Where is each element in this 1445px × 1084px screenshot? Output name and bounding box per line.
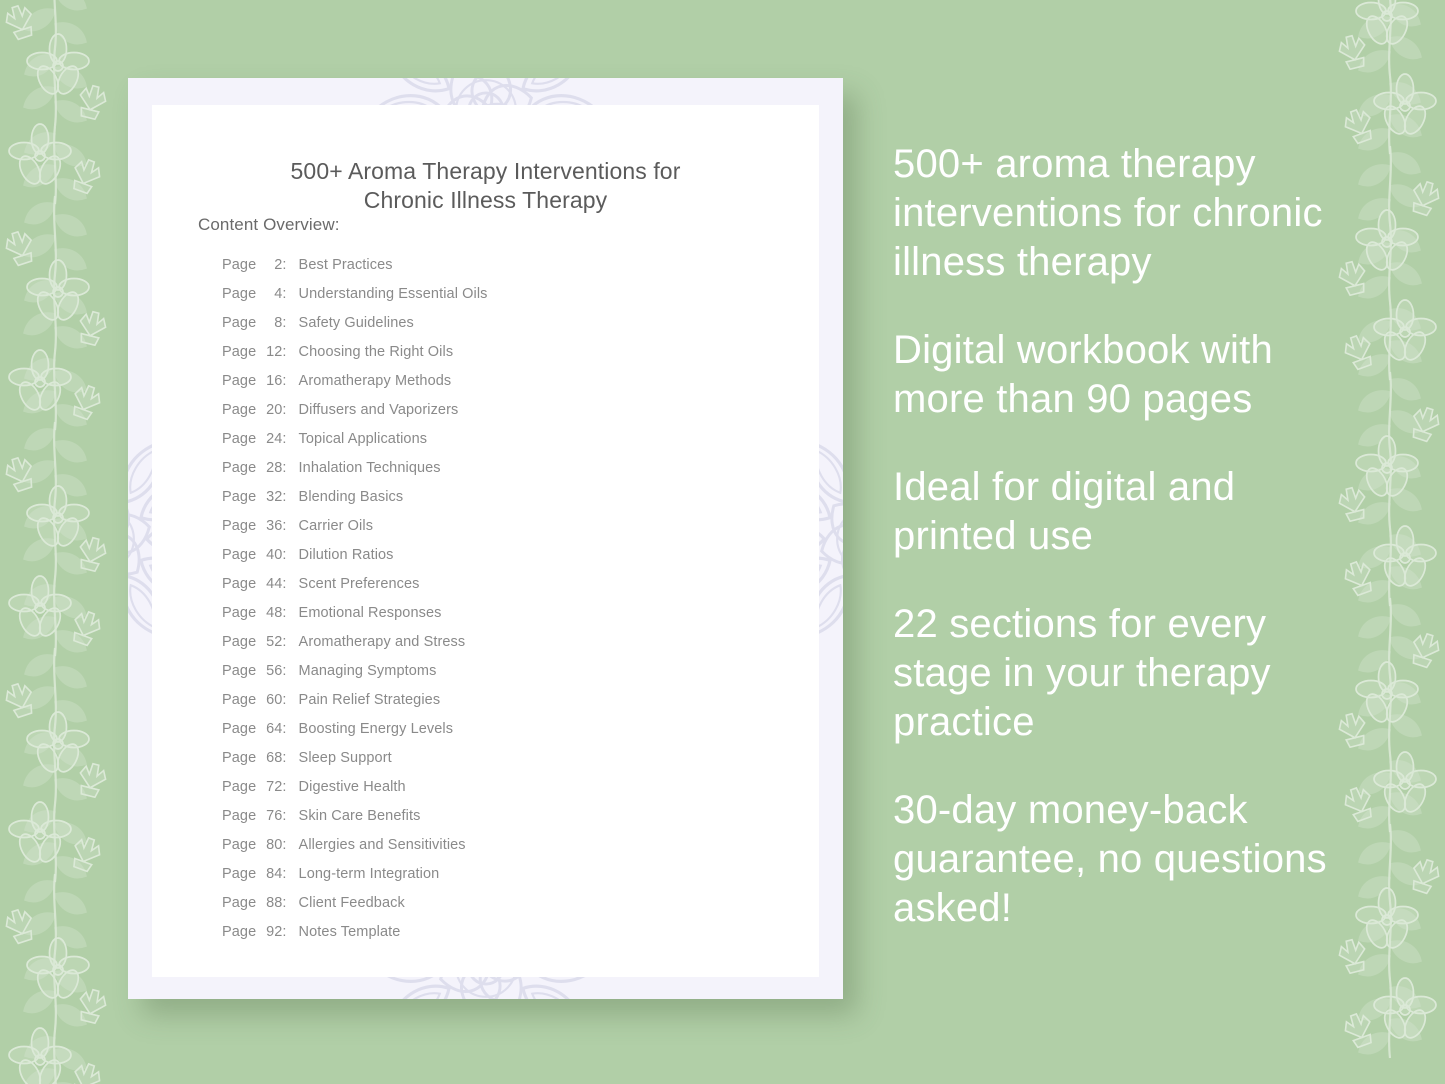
toc-entry-colon: :	[282, 425, 294, 454]
toc-entry-page-word: Page	[222, 715, 256, 744]
toc-entry-page-word: Page	[222, 831, 256, 860]
toc-entry-title: Notes Template	[299, 918, 401, 947]
toc-entry-title: Diffusers and Vaporizers	[299, 396, 459, 425]
toc-entry: Page 8: Safety Guidelines	[222, 309, 782, 338]
toc-entry: Page 88: Client Feedback	[222, 889, 782, 918]
toc-entry-page-number: 40	[260, 541, 282, 570]
toc-entry-colon: :	[282, 773, 294, 802]
toc-entry-page-number: 36	[260, 512, 282, 541]
toc-entry: Page 52: Aromatherapy and Stress	[222, 628, 782, 657]
toc-entry-title: Aromatherapy Methods	[299, 367, 452, 396]
toc-entry-page-word: Page	[222, 251, 256, 280]
toc-entry-page-number: 44	[260, 570, 282, 599]
toc-entry-title: Inhalation Techniques	[299, 454, 441, 483]
toc-entry: Page 12: Choosing the Right Oils	[222, 338, 782, 367]
toc-entry-page-word: Page	[222, 309, 256, 338]
toc-entry-page-number: 92	[260, 918, 282, 947]
toc-entry-title: Client Feedback	[299, 889, 405, 918]
toc-entry: Page 72: Digestive Health	[222, 773, 782, 802]
toc-entry-page-word: Page	[222, 889, 256, 918]
toc-entry-title: Carrier Oils	[299, 512, 374, 541]
toc-entry: Page 60: Pain Relief Strategies	[222, 686, 782, 715]
toc-entry: Page 84: Long-term Integration	[222, 860, 782, 889]
toc-entry-title: Managing Symptoms	[299, 657, 437, 686]
toc-entry-title: Blending Basics	[299, 483, 404, 512]
toc-entry-page-word: Page	[222, 338, 256, 367]
toc-entry-colon: :	[282, 570, 294, 599]
product-listing-graphic: 500+ Aroma Therapy Interventions for Chr…	[0, 0, 1445, 1084]
toc-entry-colon: :	[282, 251, 294, 280]
toc-entry: Page 80: Allergies and Sensitivities	[222, 831, 782, 860]
document-page: 500+ Aroma Therapy Interventions for Chr…	[152, 105, 819, 977]
toc-entry-page-word: Page	[222, 483, 256, 512]
toc-entry-page-word: Page	[222, 686, 256, 715]
toc-entry-page-word: Page	[222, 280, 256, 309]
toc-entry-page-word: Page	[222, 918, 256, 947]
toc-entry: Page 76: Skin Care Benefits	[222, 802, 782, 831]
toc-entry-title: Scent Preferences	[299, 570, 420, 599]
toc-entry-colon: :	[282, 628, 294, 657]
toc-entry-page-word: Page	[222, 860, 256, 889]
toc-entry-page-number: 56	[260, 657, 282, 686]
toc-entry-page-word: Page	[222, 657, 256, 686]
toc-entry-page-word: Page	[222, 541, 256, 570]
toc-entry-page-number: 12	[260, 338, 282, 367]
marketing-promo-text: 22 sections for every stage in your ther…	[893, 600, 1363, 747]
toc-entry: Page 64: Boosting Energy Levels	[222, 715, 782, 744]
toc-entry-page-word: Page	[222, 744, 256, 773]
toc-entry-colon: :	[282, 889, 294, 918]
toc-entry-page-number: 52	[260, 628, 282, 657]
toc-entry-title: Skin Care Benefits	[299, 802, 421, 831]
toc-entry-colon: :	[282, 338, 294, 367]
toc-entry-title: Pain Relief Strategies	[299, 686, 441, 715]
toc-entry-page-number: 16	[260, 367, 282, 396]
toc-entry-colon: :	[282, 657, 294, 686]
toc-entry-colon: :	[282, 831, 294, 860]
toc-entry-page-number: 76	[260, 802, 282, 831]
toc-entry-page-number: 48	[260, 599, 282, 628]
page-title-line-2: Chronic Illness Therapy	[192, 186, 779, 215]
toc-entry: Page 24: Topical Applications	[222, 425, 782, 454]
toc-entry-page-number: 80	[260, 831, 282, 860]
toc-entry-title: Long-term Integration	[299, 860, 440, 889]
marketing-promo-text: 500+ aroma therapy interventions for chr…	[893, 140, 1363, 287]
marketing-promo-text: Digital workbook with more than 90 pages	[893, 326, 1363, 424]
toc-entry-title: Sleep Support	[299, 744, 392, 773]
toc-entry-page-word: Page	[222, 802, 256, 831]
toc-entry-title: Aromatherapy and Stress	[299, 628, 466, 657]
toc-entry-page-word: Page	[222, 512, 256, 541]
toc-entry: Page 28: Inhalation Techniques	[222, 454, 782, 483]
toc-entry-colon: :	[282, 599, 294, 628]
toc-entry-colon: :	[282, 860, 294, 889]
toc-entry-page-number: 72	[260, 773, 282, 802]
toc-entry-colon: :	[282, 541, 294, 570]
toc-entry-page-word: Page	[222, 773, 256, 802]
toc-entry-title: Digestive Health	[299, 773, 406, 802]
toc-entry-page-number: 84	[260, 860, 282, 889]
toc-entry-colon: :	[282, 686, 294, 715]
toc-entry-title: Understanding Essential Oils	[299, 280, 488, 309]
toc-entry-page-word: Page	[222, 599, 256, 628]
marketing-promo-text: 30-day money-back guarantee, no question…	[893, 786, 1363, 933]
toc-entry: Page 40: Dilution Ratios	[222, 541, 782, 570]
toc-entry: Page 92: Notes Template	[222, 918, 782, 947]
toc-entry-title: Topical Applications	[299, 425, 428, 454]
toc-entry-page-number: 68	[260, 744, 282, 773]
table-of-contents: Page 2: Best PracticesPage 4: Understand…	[222, 251, 782, 947]
toc-entry-page-number: 60	[260, 686, 282, 715]
toc-entry-colon: :	[282, 918, 294, 947]
content-overview-label: Content Overview:	[198, 215, 340, 235]
marketing-promo-text: Ideal for digital and printed use	[893, 463, 1363, 561]
toc-entry-page-number: 88	[260, 889, 282, 918]
toc-entry-page-number: 24	[260, 425, 282, 454]
toc-entry-colon: :	[282, 512, 294, 541]
toc-entry-colon: :	[282, 802, 294, 831]
toc-entry-page-number: 28	[260, 454, 282, 483]
toc-entry: Page 44: Scent Preferences	[222, 570, 782, 599]
toc-entry-title: Best Practices	[299, 251, 393, 280]
toc-entry-page-word: Page	[222, 425, 256, 454]
toc-entry-colon: :	[282, 367, 294, 396]
toc-entry: Page 32: Blending Basics	[222, 483, 782, 512]
toc-entry-page-number: 2	[260, 251, 282, 280]
marketing-copy-column: 500+ aroma therapy interventions for chr…	[893, 140, 1363, 933]
toc-entry-colon: :	[282, 715, 294, 744]
toc-entry: Page 16: Aromatherapy Methods	[222, 367, 782, 396]
toc-entry: Page 20: Diffusers and Vaporizers	[222, 396, 782, 425]
toc-entry-page-number: 32	[260, 483, 282, 512]
toc-entry-page-number: 8	[260, 309, 282, 338]
toc-entry-page-word: Page	[222, 367, 256, 396]
toc-entry-page-number: 64	[260, 715, 282, 744]
toc-entry-title: Boosting Energy Levels	[299, 715, 454, 744]
toc-entry-title: Dilution Ratios	[299, 541, 394, 570]
toc-entry-title: Choosing the Right Oils	[299, 338, 454, 367]
toc-entry-colon: :	[282, 454, 294, 483]
toc-entry: Page 68: Sleep Support	[222, 744, 782, 773]
page-title-line-1: 500+ Aroma Therapy Interventions for	[192, 157, 779, 186]
toc-entry-colon: :	[282, 309, 294, 338]
toc-entry: Page 48: Emotional Responses	[222, 599, 782, 628]
toc-entry-page-number: 20	[260, 396, 282, 425]
toc-entry-title: Emotional Responses	[299, 599, 442, 628]
toc-entry: Page 2: Best Practices	[222, 251, 782, 280]
toc-entry-page-word: Page	[222, 396, 256, 425]
toc-entry: Page 36: Carrier Oils	[222, 512, 782, 541]
toc-entry-title: Safety Guidelines	[299, 309, 414, 338]
toc-entry-page-word: Page	[222, 628, 256, 657]
toc-entry-colon: :	[282, 744, 294, 773]
toc-entry-page-word: Page	[222, 570, 256, 599]
toc-entry: Page 56: Managing Symptoms	[222, 657, 782, 686]
toc-entry-colon: :	[282, 396, 294, 425]
page-title: 500+ Aroma Therapy Interventions for Chr…	[192, 157, 779, 215]
toc-entry-page-number: 4	[260, 280, 282, 309]
toc-entry-page-word: Page	[222, 454, 256, 483]
toc-entry-colon: :	[282, 280, 294, 309]
toc-entry-title: Allergies and Sensitivities	[299, 831, 466, 860]
toc-entry: Page 4: Understanding Essential Oils	[222, 280, 782, 309]
toc-entry-colon: :	[282, 483, 294, 512]
floral-vine-icon	[0, 0, 142, 1084]
document-preview-card: 500+ Aroma Therapy Interventions for Chr…	[128, 78, 843, 999]
